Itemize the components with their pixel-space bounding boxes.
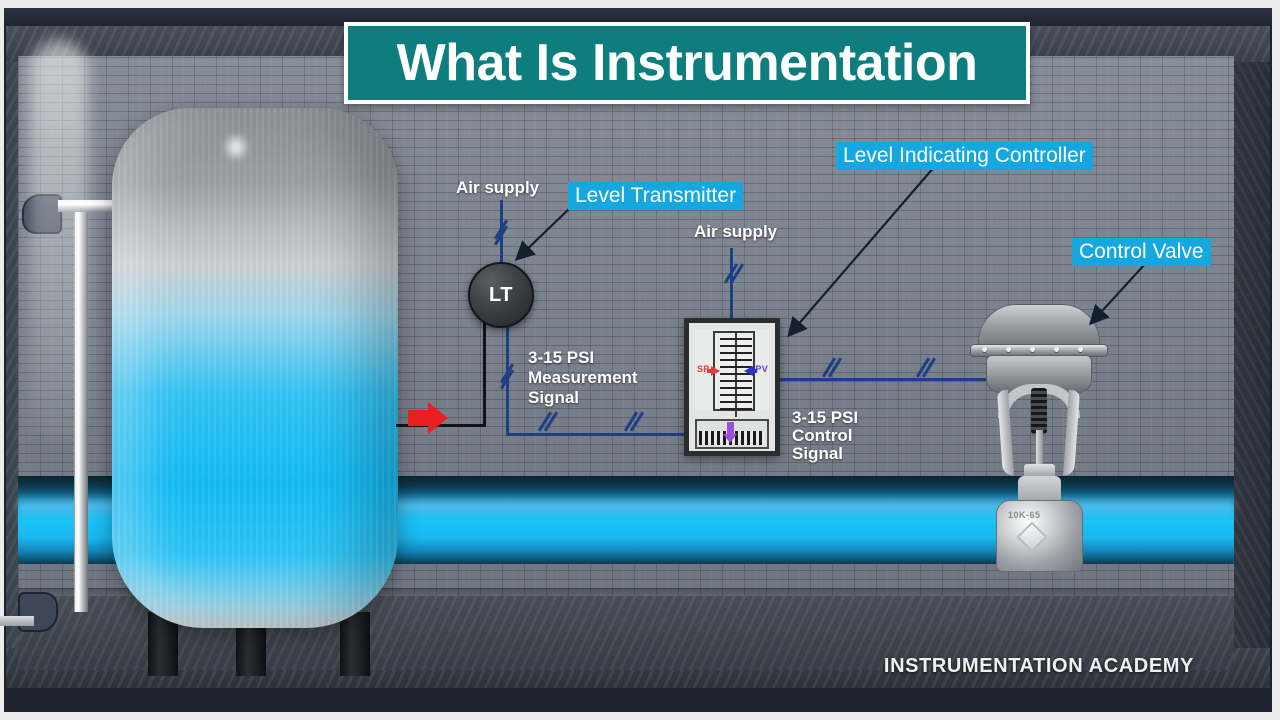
watermark: INSTRUMENTATION ACADEMY: [884, 655, 1194, 678]
callout-level-indicating-controller: Level Indicating Controller: [836, 142, 1093, 170]
title-banner: What Is Instrumentation: [344, 22, 1030, 104]
callout-control-valve: Control Valve: [1072, 238, 1211, 266]
callout-level-transmitter: Level Transmitter: [568, 182, 743, 210]
page-title: What Is Instrumentation: [397, 33, 978, 93]
instrumentation-diagram: LT SP: [0, 0, 1280, 720]
callout-leader-lines: [0, 0, 1280, 720]
